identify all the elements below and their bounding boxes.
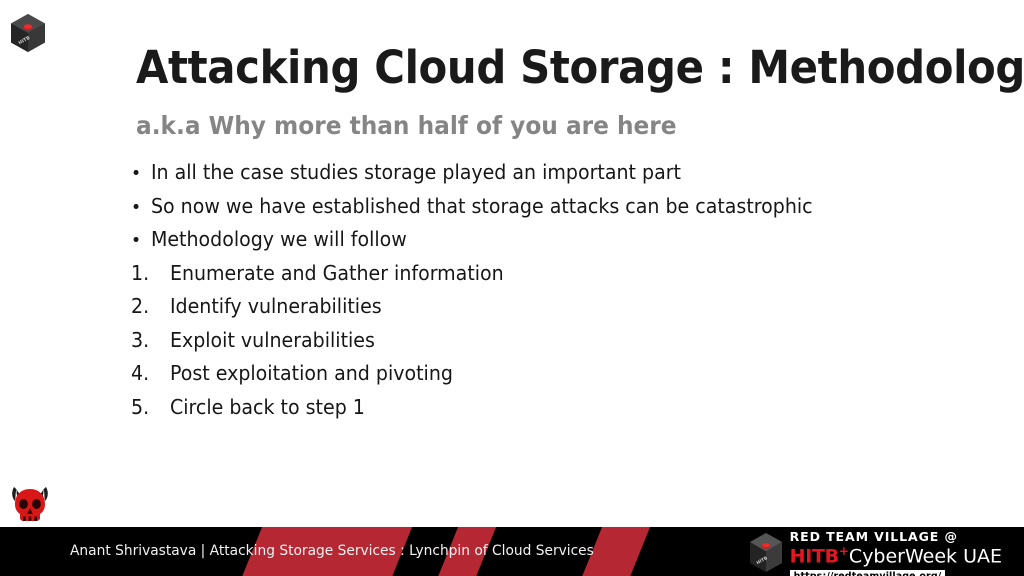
- footer-brand: HITB RED TEAM VILLAGE @ HITB+CyberWeek U…: [748, 530, 1002, 576]
- brand-hitb-label: HITB: [790, 546, 839, 568]
- numbered-list-marker: 2.: [131, 294, 170, 318]
- list-item: • In all the case studies storage played…: [131, 160, 891, 194]
- numbered-list-item: 3. Exploit vulnerabilities: [131, 328, 891, 362]
- slide-body: • In all the case studies storage played…: [131, 160, 931, 428]
- footer-brand-text: RED TEAM VILLAGE @ HITB+CyberWeek UAE ht…: [790, 530, 1002, 576]
- numbered-list-item: 4. Post exploitation and pivoting: [131, 361, 891, 395]
- numbered-list-item: 1. Enumerate and Gather information: [131, 261, 891, 295]
- list-item-label: In all the case studies storage played a…: [151, 160, 681, 184]
- numbered-list-item-label: Circle back to step 1: [170, 395, 365, 419]
- brand-url-label[interactable]: https://redteamvillage.org/: [790, 570, 946, 576]
- slide-canvas: HITB Attacking Cloud Storage : Methodolo…: [0, 0, 1024, 576]
- list-item-label: So now we have established that storage …: [151, 194, 813, 218]
- numbered-list-item-label: Identify vulnerabilities: [170, 294, 382, 318]
- page-subtitle: a.k.a Why more than half of you are here: [136, 111, 677, 140]
- numbered-list-marker: 5.: [131, 395, 170, 419]
- list-item-label: Methodology we will follow: [151, 227, 407, 251]
- brand-line-red-team-village: RED TEAM VILLAGE @: [790, 530, 1002, 544]
- numbered-list-item-label: Exploit vulnerabilities: [170, 328, 375, 352]
- numbered-list-item-label: Post exploitation and pivoting: [170, 361, 453, 385]
- hitb-cube-icon: HITB: [748, 532, 784, 574]
- numbered-list-marker: 4.: [131, 361, 170, 385]
- brand-line-hitb-cyberweek: HITB+CyberWeek UAE: [790, 545, 1002, 567]
- numbered-list-marker: 1.: [131, 261, 170, 285]
- red-team-village-skull-icon: [8, 483, 52, 525]
- bullet-marker-icon: •: [131, 199, 151, 217]
- hitb-cube-icon: HITB: [9, 13, 47, 53]
- bullet-marker-icon: •: [131, 165, 151, 183]
- list-item: • So now we have established that storag…: [131, 194, 891, 228]
- numbered-list-item: 5. Circle back to step 1: [131, 395, 891, 429]
- brand-cyberweek-label: CyberWeek UAE: [849, 546, 1002, 568]
- numbered-list-item-label: Enumerate and Gather information: [170, 261, 504, 285]
- footer-bar: Anant Shrivastava | Attacking Storage Se…: [0, 527, 1024, 576]
- footer-credit-text: Anant Shrivastava | Attacking Storage Se…: [70, 527, 594, 576]
- numbered-list-item: 2. Identify vulnerabilities: [131, 294, 891, 328]
- numbered-list-marker: 3.: [131, 328, 170, 352]
- list-item: • Methodology we will follow: [131, 227, 891, 261]
- brand-hitb-superscript: +: [839, 544, 849, 558]
- bullet-marker-icon: •: [131, 232, 151, 250]
- page-title: Attacking Cloud Storage : Methodology: [136, 44, 1024, 93]
